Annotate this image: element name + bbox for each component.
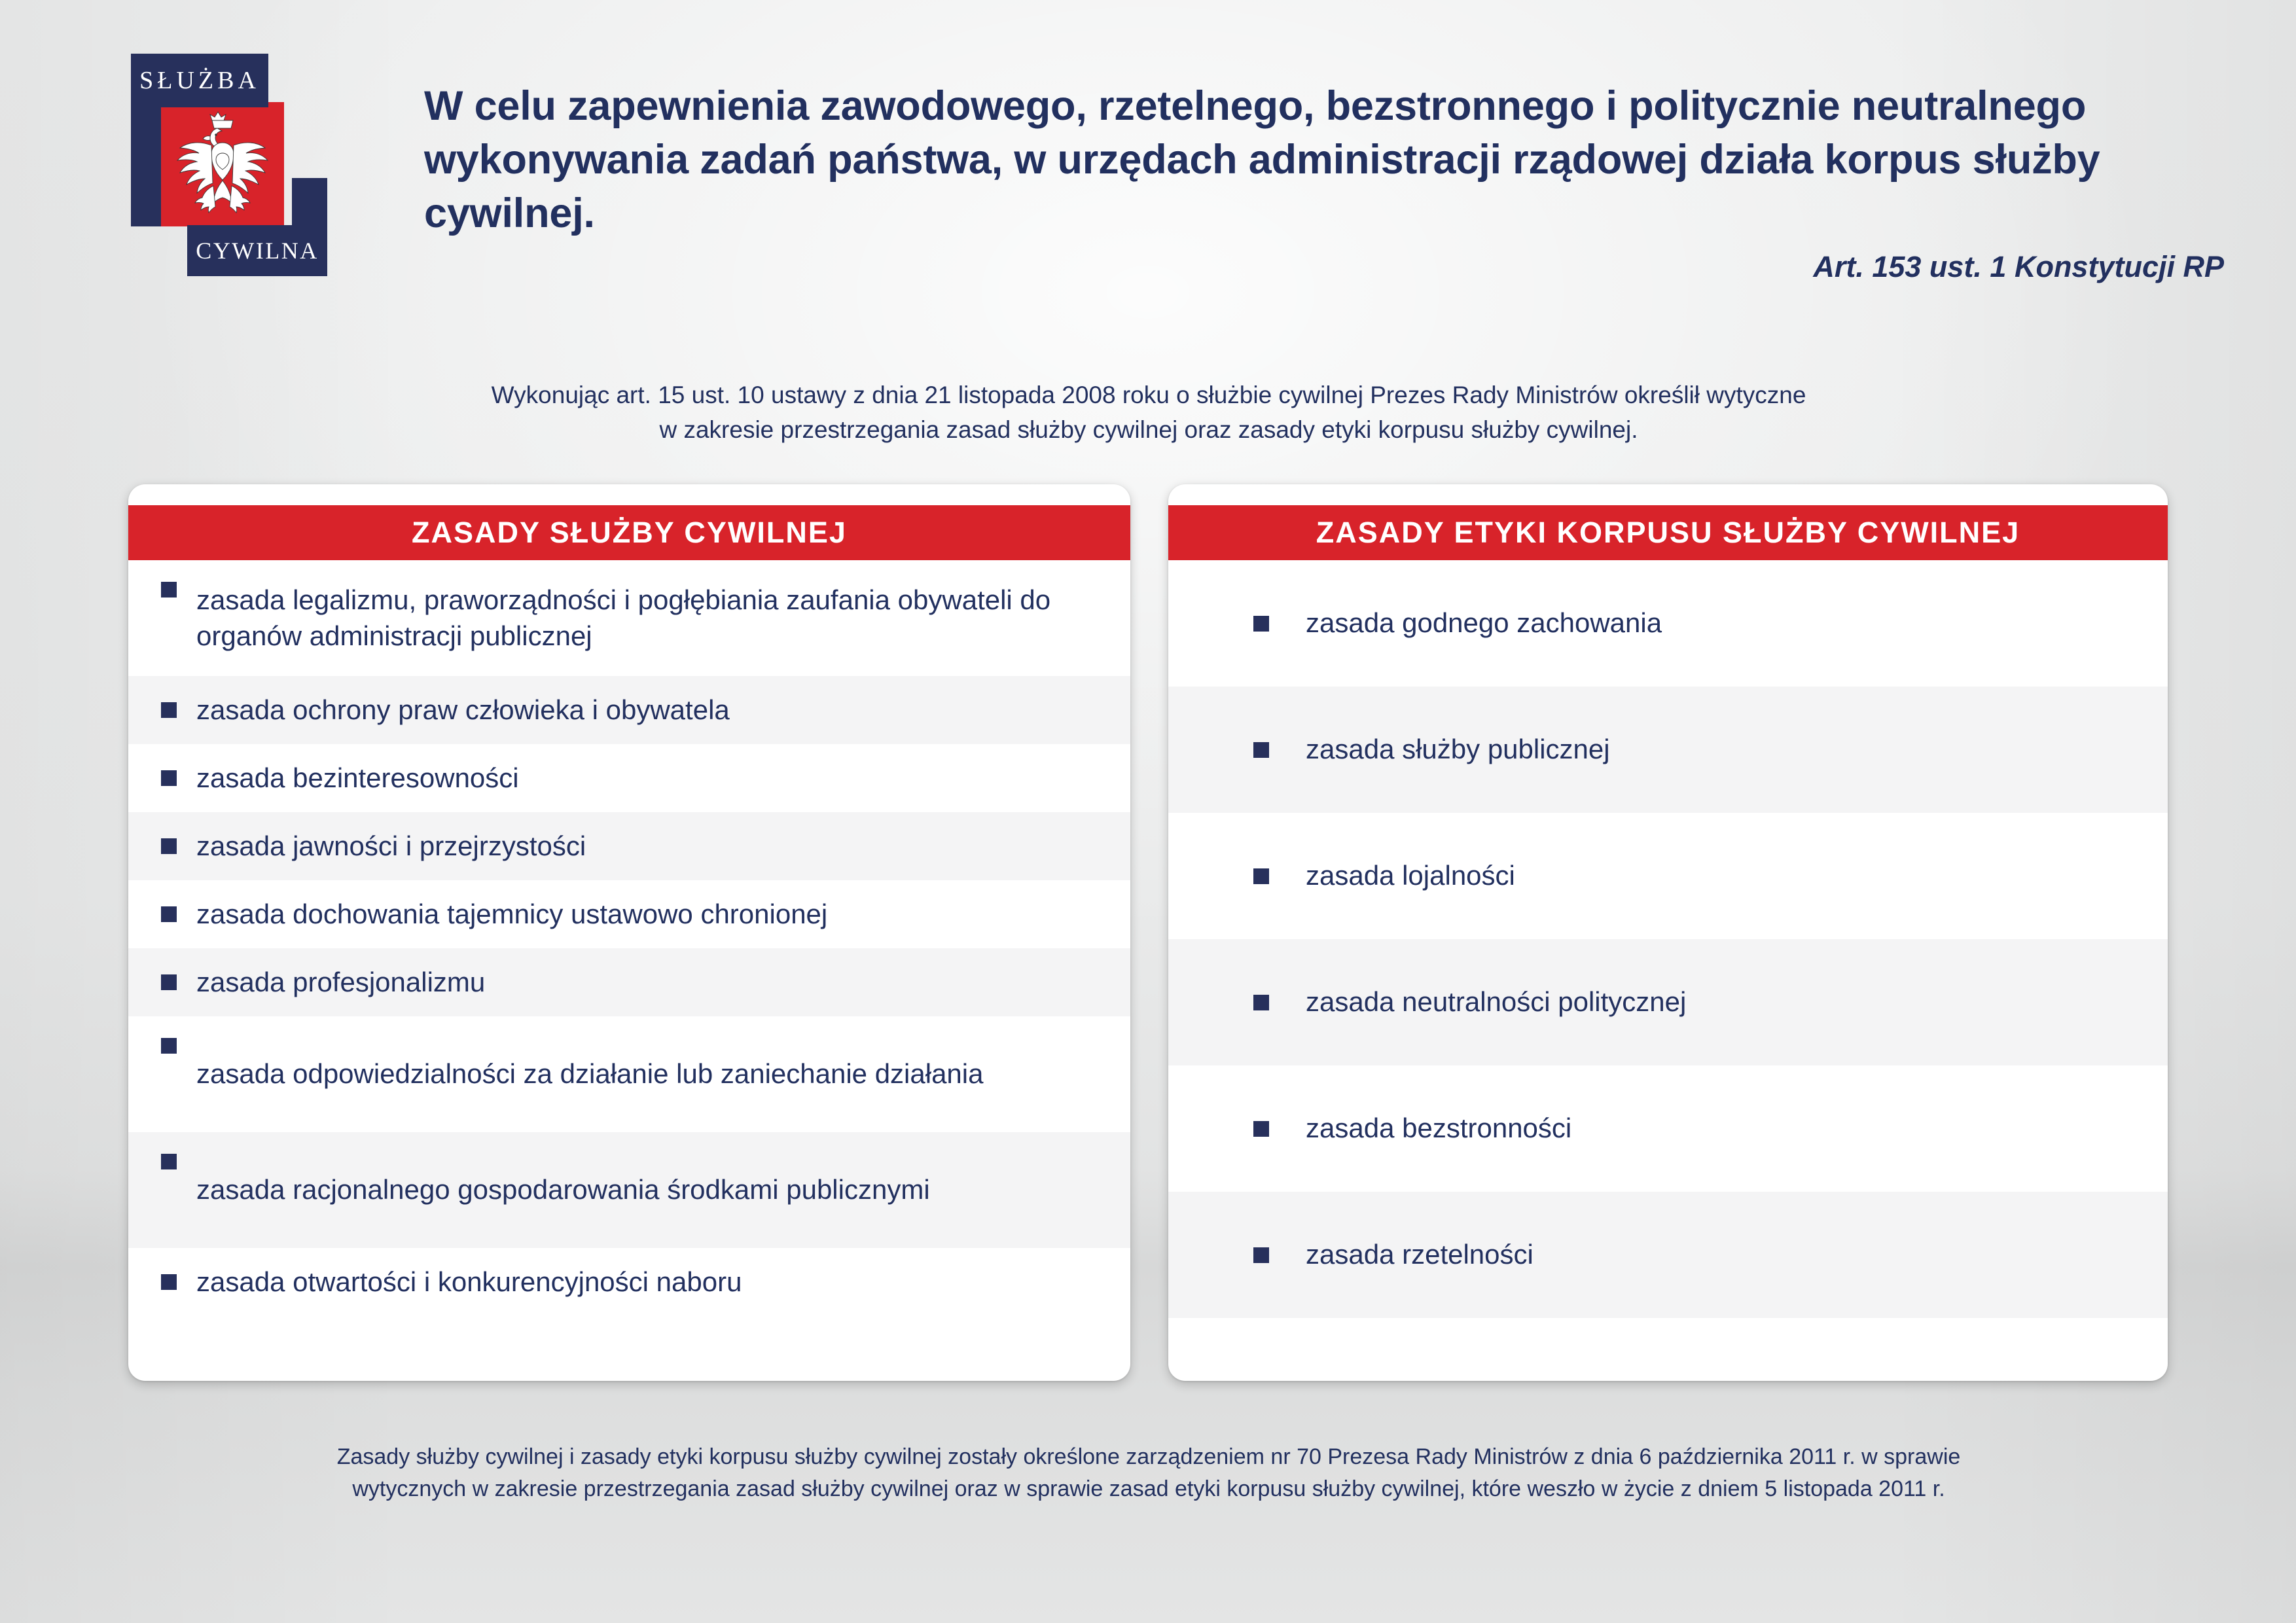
- panel-right-heading: ZASADY ETYKI KORPUSU SŁUŻBY CYWILNEJ: [1168, 505, 2168, 560]
- list-item-label: zasada rzetelności: [1306, 1237, 1534, 1273]
- list-item[interactable]: zasada bezinteresowności: [128, 744, 1130, 812]
- constitution-citation: Art. 153 ust. 1 Konstytucji RP: [1813, 250, 2224, 284]
- square-bullet-icon: [1253, 868, 1269, 884]
- list-item[interactable]: zasada lojalności: [1168, 813, 2168, 939]
- list-item-label: zasada lojalności: [1306, 858, 1515, 894]
- list-item[interactable]: zasada bezstronności: [1168, 1065, 2168, 1192]
- square-bullet-icon: [161, 906, 177, 922]
- footer-line-1: Zasady służby cywilnej i zasady etyki ko…: [157, 1441, 2140, 1473]
- logo-word-cywilna: CYWILNA: [187, 225, 327, 276]
- list-item[interactable]: zasada dochowania tajemnicy ustawowo chr…: [128, 880, 1130, 948]
- panel-civil-service-ethics-principles: ZASADY ETYKI KORPUSU SŁUŻBY CYWILNEJ zas…: [1168, 484, 2168, 1381]
- square-bullet-icon: [161, 974, 177, 990]
- list-item-label: zasada odpowiedzialności za działanie lu…: [196, 1056, 983, 1092]
- list-item[interactable]: zasada racjonalnego gospodarowania środk…: [128, 1132, 1130, 1248]
- list-item[interactable]: zasada odpowiedzialności za działanie lu…: [128, 1016, 1130, 1132]
- list-item[interactable]: zasada służby publicznej: [1168, 687, 2168, 813]
- square-bullet-icon: [161, 838, 177, 854]
- square-bullet-icon: [1253, 616, 1269, 632]
- civil-service-logo: SŁUŻBA CYWILNA: [131, 54, 327, 276]
- list-item-label: zasada racjonalnego gospodarowania środk…: [196, 1172, 930, 1208]
- principles-panels: ZASADY SŁUŻBY CYWILNEJ zasada legalizmu,…: [128, 484, 2168, 1381]
- page-title: W celu zapewnienia zawodowego, rzetelneg…: [424, 80, 2191, 241]
- square-bullet-icon: [161, 582, 177, 597]
- panel-left-list: zasada legalizmu, praworządności i pogłę…: [128, 560, 1130, 1381]
- list-item-label: zasada jawności i przejrzystości: [196, 829, 586, 865]
- square-bullet-icon: [1253, 742, 1269, 758]
- list-item[interactable]: zasada legalizmu, praworządności i pogłę…: [128, 560, 1130, 676]
- list-item-label: zasada otwartości i konkurencyjności nab…: [196, 1264, 742, 1300]
- polish-eagle-crest-icon: [161, 102, 284, 226]
- list-item-label: zasada legalizmu, praworządności i pogłę…: [196, 582, 1100, 654]
- list-item-label: zasada neutralności politycznej: [1306, 984, 1686, 1020]
- list-item[interactable]: zasada otwartości i konkurencyjności nab…: [128, 1248, 1130, 1316]
- footer-line-2: wytycznych w zakresie przestrzegania zas…: [157, 1473, 2140, 1505]
- square-bullet-icon: [1253, 1121, 1269, 1137]
- list-item[interactable]: zasada neutralności politycznej: [1168, 939, 2168, 1065]
- list-item-label: zasada dochowania tajemnicy ustawowo chr…: [196, 897, 827, 933]
- square-bullet-icon: [161, 770, 177, 786]
- square-bullet-icon: [161, 1154, 177, 1169]
- square-bullet-icon: [161, 1038, 177, 1054]
- square-bullet-icon: [161, 1274, 177, 1290]
- list-item-label: zasada profesjonalizmu: [196, 965, 485, 1001]
- list-item[interactable]: zasada ochrony praw człowieka i obywatel…: [128, 676, 1130, 744]
- intro-line-1: Wykonując art. 15 ust. 10 ustawy z dnia …: [419, 378, 1878, 413]
- panel-right-list: zasada godnego zachowania zasada służby …: [1168, 560, 2168, 1381]
- panel-left-heading: ZASADY SŁUŻBY CYWILNEJ: [128, 505, 1130, 560]
- list-item[interactable]: zasada godnego zachowania: [1168, 560, 2168, 687]
- list-item-label: zasada godnego zachowania: [1306, 605, 1662, 641]
- list-item[interactable]: zasada rzetelności: [1168, 1192, 2168, 1318]
- intro-paragraph: Wykonując art. 15 ust. 10 ustawy z dnia …: [419, 378, 1878, 447]
- list-item[interactable]: zasada jawności i przejrzystości: [128, 812, 1130, 880]
- square-bullet-icon: [1253, 1247, 1269, 1263]
- logo-word-sluzba: SŁUŻBA: [131, 54, 268, 107]
- list-item-label: zasada bezstronności: [1306, 1111, 1571, 1147]
- list-item-label: zasada służby publicznej: [1306, 732, 1610, 768]
- footer-note: Zasady służby cywilnej i zasady etyki ko…: [157, 1441, 2140, 1506]
- panel-civil-service-principles: ZASADY SŁUŻBY CYWILNEJ zasada legalizmu,…: [128, 484, 1130, 1381]
- intro-line-2: w zakresie przestrzegania zasad służby c…: [419, 413, 1878, 448]
- square-bullet-icon: [1253, 995, 1269, 1010]
- list-item[interactable]: zasada profesjonalizmu: [128, 948, 1130, 1016]
- square-bullet-icon: [161, 702, 177, 718]
- header: SŁUŻBA CYWILNA W celu zapewnienia zawodo…: [0, 0, 2296, 327]
- list-item-label: zasada ochrony praw człowieka i obywatel…: [196, 692, 730, 728]
- list-item-label: zasada bezinteresowności: [196, 760, 519, 796]
